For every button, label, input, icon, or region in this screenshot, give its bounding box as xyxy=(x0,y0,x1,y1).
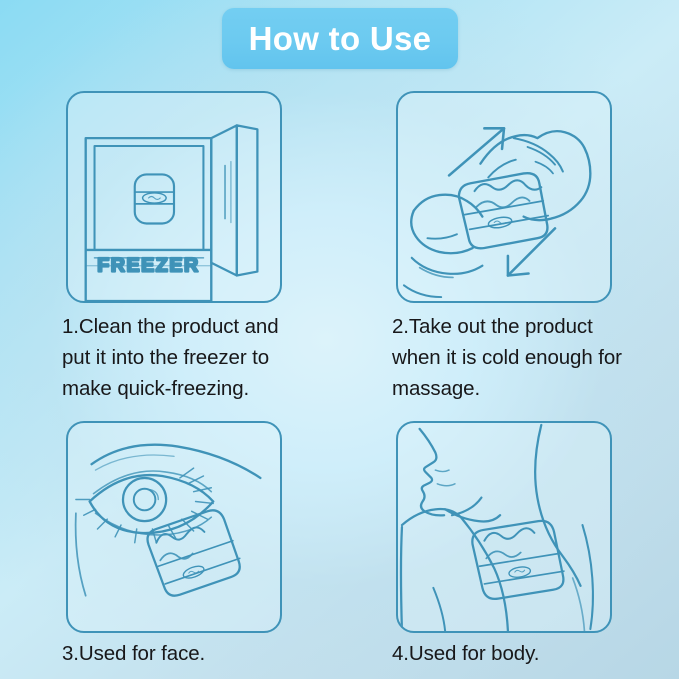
product-device-in-freezer xyxy=(135,174,174,223)
step-3-caption: 3.Used for face. xyxy=(62,638,312,669)
neck-and-jaw xyxy=(402,498,500,525)
freezer-label: FREEZER xyxy=(97,255,200,277)
lower-hand xyxy=(404,195,482,297)
product-device-on-face xyxy=(148,510,240,595)
step-4-illustration-panel xyxy=(396,421,612,633)
freezer-door xyxy=(211,125,257,275)
arrow-up-right-icon xyxy=(449,128,504,175)
product-device-in-hands xyxy=(459,173,548,248)
step-1-illustration-panel: FREEZER xyxy=(66,91,282,303)
step-1-caption: 1.Clean the product and put it into the … xyxy=(62,311,312,404)
step-4-caption: 4.Used for body. xyxy=(392,638,642,669)
face-profile xyxy=(420,429,455,516)
cheek-contour xyxy=(76,513,86,595)
title-banner: How to Use xyxy=(222,8,458,69)
step-2-illustration-panel xyxy=(396,91,612,303)
how-to-use-infographic: How to Use xyxy=(0,0,679,679)
arrow-down-left-icon xyxy=(508,228,555,275)
eyebrow xyxy=(92,445,261,478)
page-title: How to Use xyxy=(249,22,432,55)
step-2-caption: 2.Take out the product when it is cold e… xyxy=(392,311,642,404)
product-device-on-body xyxy=(472,521,564,599)
step-3-illustration-panel xyxy=(66,421,282,633)
